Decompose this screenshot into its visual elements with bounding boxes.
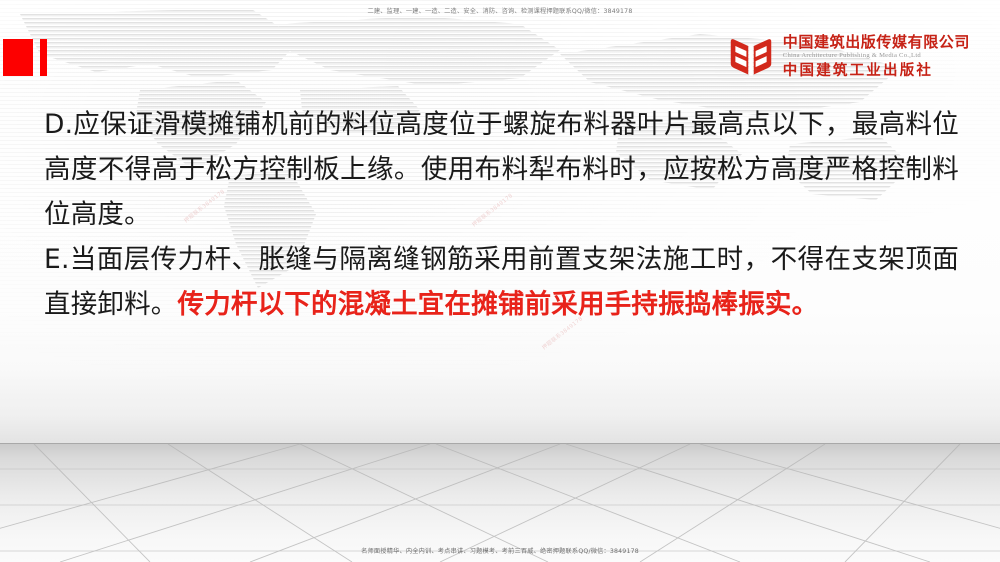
- accent-blocks: [3, 39, 47, 76]
- publisher-logo: 中国建筑出版传媒有限公司 China Architecture Publishi…: [728, 34, 970, 80]
- paragraph-e-run-2-highlight: 传力杆以下的混凝土宜在摊铺前采用手持振捣棒振实。: [178, 289, 819, 320]
- press-name-cn: 中国建筑工业出版社: [783, 64, 970, 79]
- perspective-grid-icon: [0, 443, 1000, 562]
- paragraph-d: D.应保证滑模摊铺机前的料位高度位于螺旋布料器叶片最高点以下，最高料位高度不得高…: [44, 102, 959, 237]
- slide-canvas: 二建、监理、一建、一造、二造、安全、消防、咨询、检测课程押题联系QQ/微信：38…: [0, 0, 1000, 562]
- accent-block-small: [40, 39, 47, 76]
- paragraph-e: E.当面层传力杆、胀缝与隔离缝钢筋采用前置支架法施工时，不得在支架顶面直接卸料。…: [44, 237, 959, 327]
- publisher-logo-text: 中国建筑出版传媒有限公司 China Architecture Publishi…: [783, 35, 970, 78]
- paragraph-d-run-1: D.应保证滑模摊铺机前的料位高度位于螺旋布料器叶片最高点以下，最高料位高度不得高…: [44, 109, 959, 230]
- bottom-banner-text: 名师面授精华、内全内训、考点串讲、习题模考、考前三百威、绝密押题联系QQ/微信：…: [0, 547, 1000, 556]
- accent-block-large: [3, 39, 33, 76]
- wall-light-gradient: [0, 370, 1000, 443]
- open-book-logo-icon: [728, 34, 774, 80]
- top-banner-text: 二建、监理、一建、一造、二造、安全、消防、咨询、检测课程押题联系QQ/微信：38…: [0, 7, 1000, 16]
- publisher-name-en: China Architecture Publishing & Media Co…: [783, 53, 970, 60]
- publisher-name-cn: 中国建筑出版传媒有限公司: [783, 35, 970, 50]
- slide-content: D.应保证滑模摊铺机前的料位高度位于螺旋布料器叶片最高点以下，最高料位高度不得高…: [44, 102, 959, 327]
- slide-floor: [0, 443, 1000, 562]
